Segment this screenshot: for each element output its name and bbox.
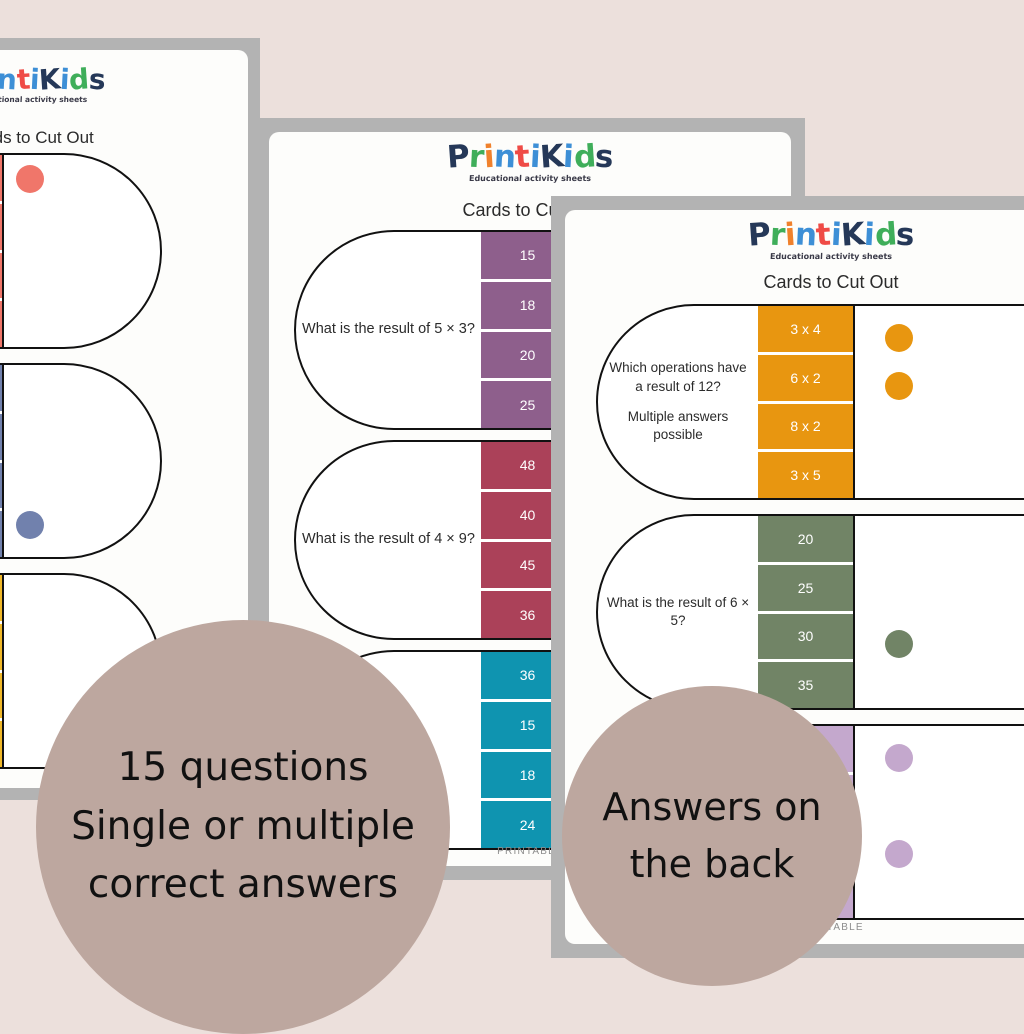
card-options: 20 25 30 35 xyxy=(758,516,855,708)
logo-letter: K xyxy=(539,141,565,174)
card-option[interactable]: 3 x 4 xyxy=(758,306,853,355)
logo-letter: n xyxy=(794,219,817,251)
card-question: Which operations have a result of 12? Mu… xyxy=(598,306,758,498)
logo-letter: P xyxy=(446,141,470,173)
card-option[interactable]: 60 xyxy=(0,414,2,463)
logo-letter: d xyxy=(573,141,597,173)
logo-tagline: Educational activity sheets xyxy=(565,253,1024,261)
logo-letter: r xyxy=(468,142,484,174)
answers-bubble-line-2: the back xyxy=(630,836,795,893)
card-option[interactable]: 6 x 2 xyxy=(758,355,853,404)
card-option[interactable] xyxy=(0,721,2,767)
printikids-logo: PrintiKids Educational activity sheets xyxy=(565,220,1024,261)
logo-letter: d xyxy=(874,219,898,251)
logo-letter: d xyxy=(68,65,89,94)
answer-dot xyxy=(885,372,913,400)
logo-letter: K xyxy=(38,65,61,94)
questions-bubble: 15 questions Single or multiple correct … xyxy=(36,620,450,1034)
answer-dot xyxy=(16,165,44,193)
card-option[interactable]: 48 xyxy=(0,365,2,414)
sheet-title: Cards to Cut Out xyxy=(565,272,1024,293)
card-question-text: What is the result of 6 × 5? xyxy=(604,594,752,630)
logo-letter: s xyxy=(595,142,615,174)
answers-bubble-line-1: Answers on xyxy=(602,779,821,836)
card-option[interactable]: 48 xyxy=(0,204,2,253)
card-question-subtext: Multiple answers possible xyxy=(604,408,752,444)
card-option[interactable]: 8 x 2 xyxy=(758,404,853,453)
answer-dot xyxy=(885,840,913,868)
card-question: What is the result of 6 × 5? xyxy=(598,516,758,708)
printikids-logo: PrintiKids Educational activity sheets xyxy=(269,142,791,183)
questions-bubble-line-3: correct answers xyxy=(88,856,398,915)
card-option[interactable]: 3 x 5 xyxy=(758,452,853,498)
card-option[interactable]: 54 xyxy=(0,463,2,512)
card-option[interactable]: 25 xyxy=(758,565,853,614)
questions-bubble-line-2: Single or multiple xyxy=(71,798,415,857)
card-option[interactable]: 30 xyxy=(758,614,853,663)
logo-wordmark: PrintiKids xyxy=(565,220,1024,251)
logo-wordmark: PrintiKids xyxy=(0,66,248,94)
logo-letter: r xyxy=(769,220,785,252)
logo-tagline: Educational activity sheets xyxy=(0,96,248,104)
questions-bubble-line-1: 15 questions xyxy=(118,739,369,798)
card-answer-area xyxy=(855,726,1024,918)
sheet-title: Cards to Cut Out xyxy=(0,128,248,148)
card-question-text: What is the result of 4 × 9? xyxy=(302,530,475,550)
card-option[interactable]: 45 xyxy=(0,253,2,302)
logo-letter: K xyxy=(840,219,866,252)
card-options: 3 x 4 6 x 2 8 x 2 3 x 5 xyxy=(758,306,855,498)
logo-letter: s xyxy=(896,220,916,252)
card-question: What is the result of 5 × 3? xyxy=(296,232,481,428)
card-answer-area xyxy=(855,306,1024,498)
logo-letter: P xyxy=(747,219,771,251)
cut-out-card[interactable]: What is the result of 7× 8? 48 60 54 56 xyxy=(0,363,162,559)
logo-letter: n xyxy=(0,66,18,95)
logo-letter: s xyxy=(88,66,106,95)
card-answer-area xyxy=(4,155,160,347)
answer-dot xyxy=(885,744,913,772)
card-answer-area xyxy=(4,365,160,557)
card-option[interactable]: 40 xyxy=(0,575,2,624)
card-option[interactable]: 56 xyxy=(0,511,2,557)
cut-out-card[interactable]: Which operations have a result of 12? Mu… xyxy=(596,304,1024,500)
answer-dot xyxy=(885,324,913,352)
card-option[interactable]: 49 xyxy=(0,155,2,204)
card-answer-area xyxy=(855,516,1024,708)
cut-out-card[interactable]: What is the result of 7 × 7? 49 48 45 56 xyxy=(0,153,162,349)
answer-dot xyxy=(885,630,913,658)
cut-out-card[interactable]: What is the result of 6 × 5? 20 25 30 35 xyxy=(596,514,1024,710)
answer-dot xyxy=(16,511,44,539)
printikids-logo: PrintiKids Educational activity sheets xyxy=(0,66,248,104)
card-question: What is the result of 4 × 9? xyxy=(296,442,481,638)
card-option[interactable] xyxy=(0,624,2,673)
answers-bubble: Answers on the back xyxy=(562,686,862,986)
card-question-text: What is the result of 5 × 3? xyxy=(302,320,475,340)
card-option[interactable] xyxy=(0,673,2,722)
card-option[interactable]: 56 xyxy=(0,301,2,347)
card-option[interactable]: 20 xyxy=(758,516,853,565)
logo-wordmark: PrintiKids xyxy=(269,142,791,173)
logo-tagline: Educational activity sheets xyxy=(269,175,791,183)
logo-letter: n xyxy=(493,141,516,173)
card-question-text: Which operations have a result of 12? xyxy=(604,359,752,395)
